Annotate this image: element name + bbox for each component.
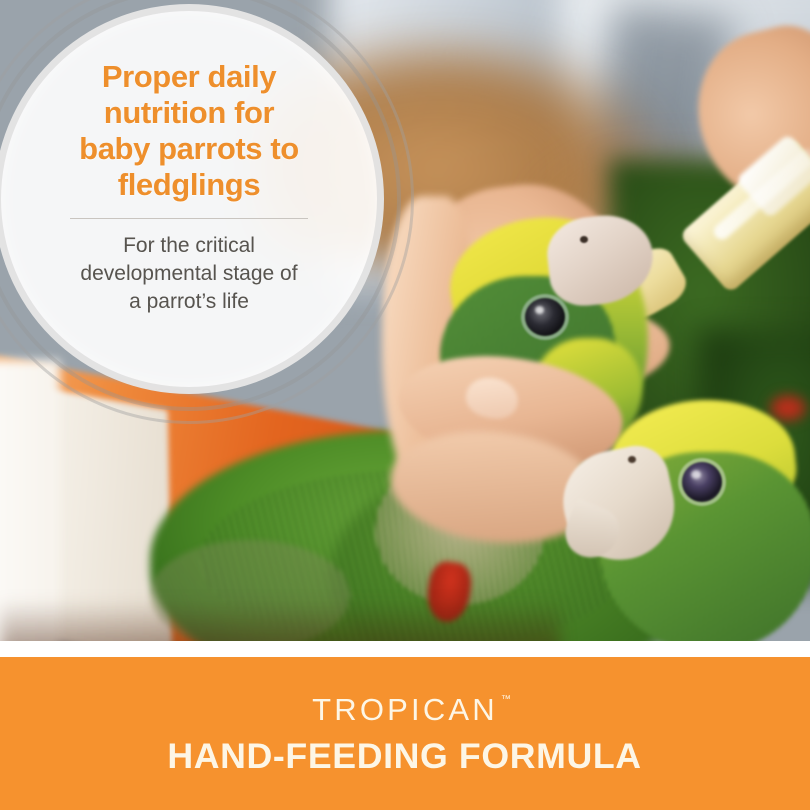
- brand-name: TROPICAN™: [312, 694, 498, 725]
- badge-subtitle-line-3: a parrot’s life: [52, 288, 327, 316]
- product-name: HAND-FEEDING FORMULA: [168, 739, 642, 774]
- brand-name-text: TROPICAN: [312, 692, 498, 727]
- badge-headline-line-4: fledglings: [39, 167, 339, 203]
- badge-headline-line-2: nutrition for: [39, 95, 339, 131]
- badge-subtitle-line-1: For the critical: [52, 232, 327, 260]
- badge-headline-line-3: baby parrots to: [39, 131, 339, 167]
- badge-headline: Proper daily nutrition for baby parrots …: [39, 59, 339, 203]
- parrot2-eye: [682, 462, 722, 502]
- badge-headline-line-1: Proper daily: [39, 59, 339, 95]
- container-bottom-shadow: [0, 600, 560, 641]
- parrot-eye: [525, 298, 565, 336]
- advertisement-banner: Proper daily nutrition for baby parrots …: [0, 0, 810, 810]
- trademark-symbol: ™: [501, 695, 511, 705]
- baby-parrot-secondary: [570, 400, 810, 641]
- parrot2-nostril: [628, 456, 636, 463]
- parrot-nostril: [580, 236, 588, 243]
- badge-subtitle: For the critical developmental stage of …: [52, 232, 327, 316]
- badge-divider: [70, 218, 308, 219]
- photo-footer-gap: [0, 641, 810, 657]
- badge-circle: Proper daily nutrition for baby parrots …: [0, 4, 384, 394]
- headline-badge: Proper daily nutrition for baby parrots …: [0, 0, 414, 424]
- brand-footer: TROPICAN™ HAND-FEEDING FORMULA: [0, 657, 810, 810]
- badge-subtitle-line-2: developmental stage of: [52, 260, 327, 288]
